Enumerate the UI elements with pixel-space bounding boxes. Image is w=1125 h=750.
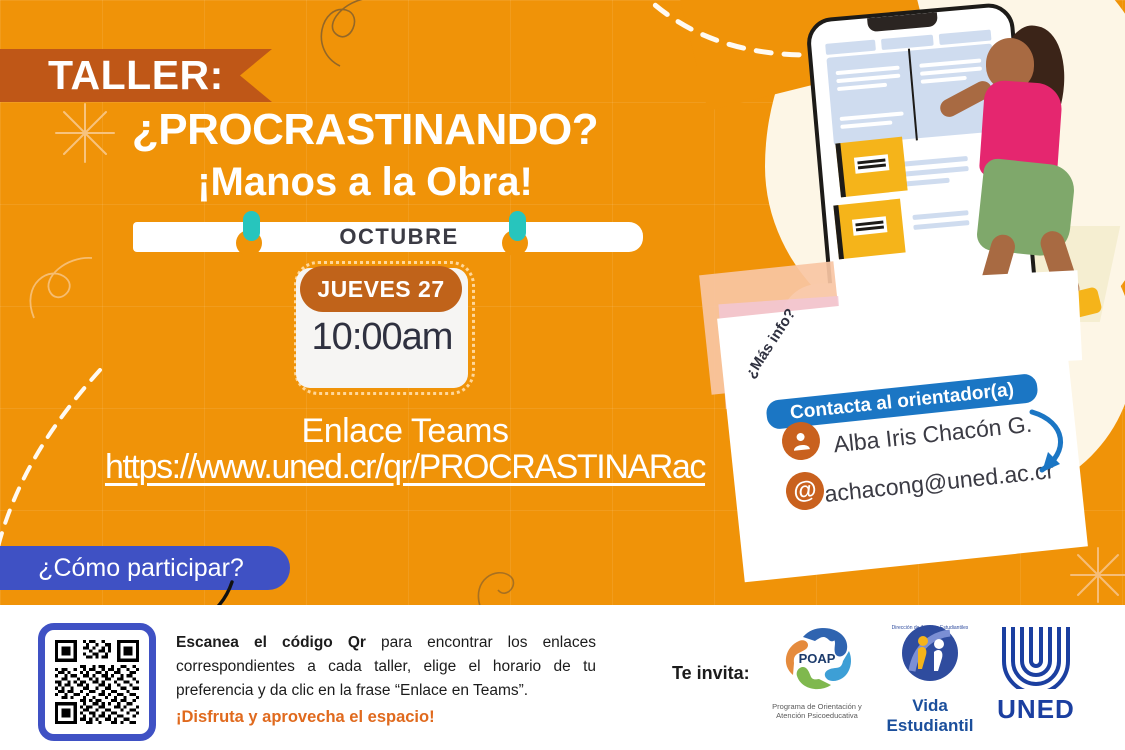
swirl-doodle-top-icon	[300, 0, 410, 74]
phone-header-block	[881, 35, 934, 50]
taller-banner: TALLER:	[0, 49, 272, 102]
qr-code-icon[interactable]	[38, 623, 156, 741]
month-label: OCTUBRE	[339, 224, 458, 250]
poster-title-line-2: ¡Manos a la Obra!	[0, 160, 700, 205]
poster-title-line-1: ¿PROCRASTINANDO?	[0, 105, 700, 155]
time-label: 10:00am	[296, 316, 468, 359]
logo-poap-caption: Programa de Orientación y Atención Psico…	[758, 702, 876, 721]
date-pill: JUEVES 27	[300, 266, 462, 312]
instructions-text: Escanea el código Qr para encontrar los …	[176, 631, 596, 731]
logo-uned-caption: UNED	[988, 694, 1084, 725]
instructions-highlight: ¡Disfruta y aprovecha el espacio!	[176, 705, 596, 731]
phone-text-line	[900, 156, 968, 167]
pin-left-icon	[240, 211, 262, 241]
phone-text-line	[912, 210, 968, 220]
how-to-participate-pill[interactable]: ¿Cómo participar?	[0, 546, 290, 590]
month-bar: OCTUBRE	[133, 222, 643, 252]
phone-text-line	[901, 178, 949, 187]
pin-right-icon	[506, 211, 528, 241]
folder-graphic	[833, 199, 905, 260]
logo-poap: POAP Programa de Orientación y Atención …	[758, 621, 876, 721]
asterisk-doodle-right-icon	[1068, 545, 1125, 605]
teams-link-label: Enlace Teams	[95, 412, 715, 451]
phone-text-line	[901, 166, 969, 177]
phone-notch	[867, 12, 938, 32]
phone-text-line	[913, 220, 969, 230]
teams-link-url[interactable]: https://www.uned.cr/qr/PROCRASTINARac	[60, 448, 750, 487]
logo-uned: UNED	[988, 623, 1084, 725]
swirl-doodle-left-icon	[20, 238, 110, 328]
phone-header-block	[825, 40, 876, 55]
invite-label: Te invita:	[672, 663, 750, 684]
logo-vida-estudiantil: Dirección de Asuntos Estudiantiles Vida …	[876, 619, 984, 736]
taller-banner-label: TALLER:	[48, 55, 224, 96]
svg-text:Dirección de Asuntos Estudiant: Dirección de Asuntos Estudiantiles	[892, 625, 968, 631]
poster-canvas: TALLER: ¿PROCRASTINANDO? ¡Manos a la Obr…	[0, 0, 1125, 750]
footer-band: Escanea el código Qr para encontrar los …	[0, 605, 1125, 750]
svg-text:POAP: POAP	[799, 651, 836, 666]
logo-vida-caption: Vida Estudiantil	[876, 696, 984, 736]
how-to-participate-label: ¿Cómo participar?	[16, 554, 244, 583]
date-pill-label: JUEVES 27	[317, 276, 444, 303]
instructions-bold-lead: Escanea el código Qr	[176, 634, 366, 651]
phone-header-block	[939, 30, 992, 45]
folder-graphic	[835, 137, 907, 198]
